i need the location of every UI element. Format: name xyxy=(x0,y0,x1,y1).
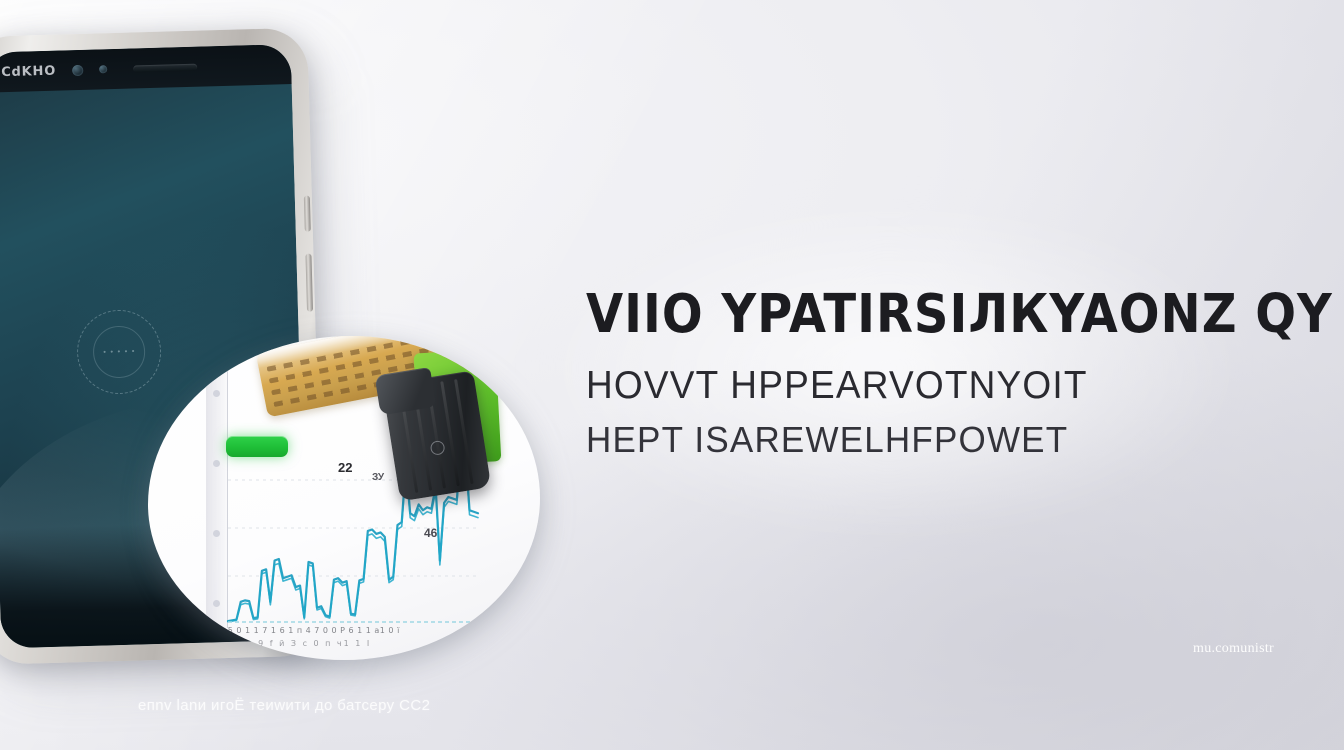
adapter-logo-icon xyxy=(430,440,446,456)
watermark-label: • • • • • xyxy=(102,348,135,357)
page-binder-edge xyxy=(206,368,228,628)
headline-block: VIIO YPATIRSIЛКYAONZ QY HOVVT HPPEARVOTN… xyxy=(586,286,1306,460)
promo-canvas: CdKHO • • • • • xyxy=(0,0,1344,750)
camera-lens-secondary-icon xyxy=(99,65,107,73)
headline-line-1: VIIO YPATIRSIЛКYAONZ QY xyxy=(586,286,1306,343)
axis-tick-row-2: ѕ а 9 f й З с 0 п ч1 1 І xyxy=(236,639,510,648)
chart-secondary-annotation: ЗУ xyxy=(372,472,384,483)
chart-x-axis-ticks: ้0 4 5 0 1 1 7 1 6 1 п 4 7 0 0 Р 6 1 1 а… xyxy=(210,624,510,648)
charging-chart-inset: 22 ЗУ 46 ้0 4 5 0 1 1 7 1 6 1 п 4 7 0 0 … xyxy=(148,336,548,676)
caption-bottom-left: епnv lanи игoЁ тeиwити до батсеру СС2 xyxy=(138,697,430,714)
headline-line-2: HOVVT HPPEARVOTNYOIT xyxy=(586,363,1306,407)
chart-side-value: 46 xyxy=(424,526,437,540)
headline-line-3: HEPT ISAREWELHFPOWET xyxy=(586,420,1306,461)
wordmark-bottom-right: mu.comunistr xyxy=(1193,641,1274,657)
chart-peak-annotation: 22 xyxy=(338,460,352,475)
phone-sim-tray[interactable] xyxy=(304,196,311,232)
earpiece-speaker-icon xyxy=(133,63,197,72)
camera-lens-icon xyxy=(72,64,83,75)
charger-adapter xyxy=(375,350,508,512)
axis-tick-row-1: ้0 4 5 0 1 1 7 1 6 1 п 4 7 0 0 Р 6 1 1 а… xyxy=(210,624,510,637)
inset-disc: 22 ЗУ 46 ้0 4 5 0 1 1 7 1 6 1 п 4 7 0 0 … xyxy=(148,336,540,660)
phone-brand-label: CdKHO xyxy=(1,63,56,80)
phone-top-bezel: CdKHO xyxy=(0,44,292,93)
phone-power-button[interactable] xyxy=(305,254,313,312)
